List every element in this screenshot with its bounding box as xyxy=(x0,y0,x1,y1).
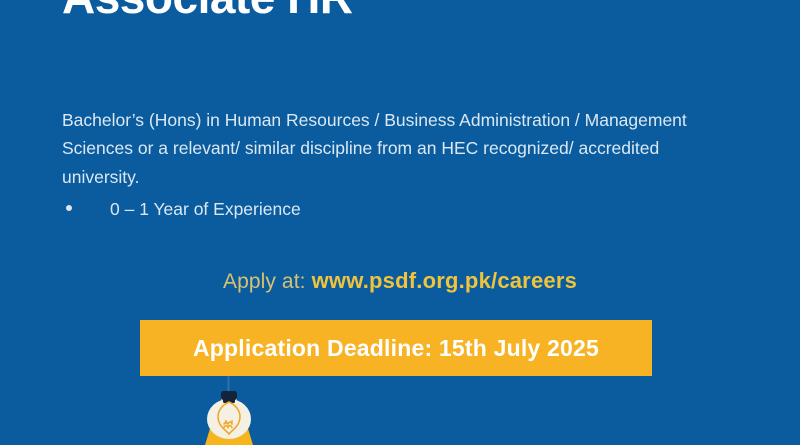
apply-line: Apply at:www.psdf.org.pk/careers xyxy=(0,268,800,294)
deadline-banner: Application Deadline: 15th July 2025 xyxy=(140,320,652,376)
requirements-list: 0 – 1 Year of Experience xyxy=(62,196,702,222)
apply-url-link[interactable]: www.psdf.org.pk/careers xyxy=(312,268,577,293)
hanging-lightbulb-icon xyxy=(183,376,277,445)
list-item: 0 – 1 Year of Experience xyxy=(62,196,702,222)
qualification-text: Bachelor’s (Hons) in Human Resources / B… xyxy=(62,106,702,192)
apply-label: Apply at: xyxy=(223,270,306,293)
bullet-dot-icon xyxy=(66,205,72,211)
job-advertisement-poster: Associate HR Bachelor’s (Hons) in Human … xyxy=(0,0,800,445)
list-item-label: 0 – 1 Year of Experience xyxy=(110,199,301,219)
page-title: Associate HR xyxy=(62,0,353,24)
deadline-text: Application Deadline: 15th July 2025 xyxy=(193,335,599,362)
